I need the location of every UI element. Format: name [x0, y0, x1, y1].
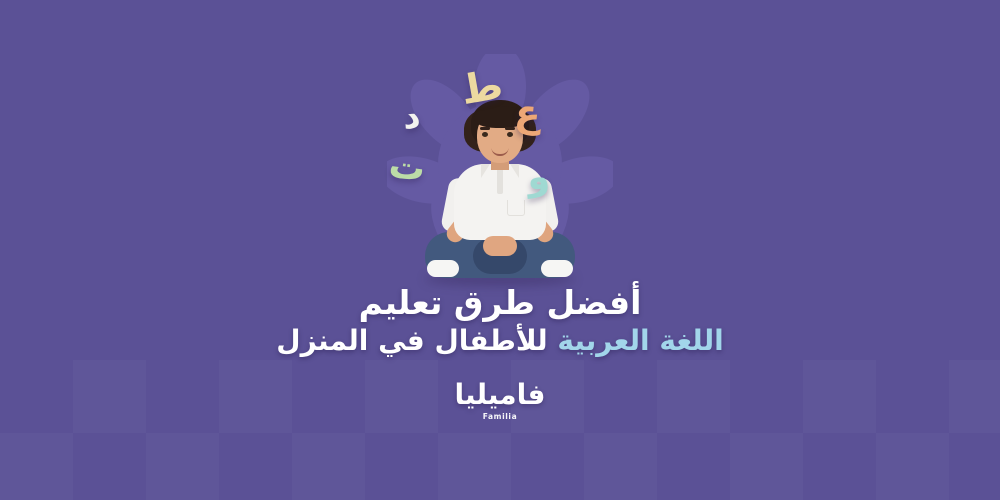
shoe-right [541, 260, 573, 277]
brand-logo: فاميليا Familia [0, 381, 1000, 421]
collar-left [481, 164, 490, 178]
child-illustration [419, 100, 581, 282]
hair-fringe [474, 106, 526, 128]
headline-highlight: اللغة العربية [557, 324, 723, 357]
eye-left [482, 132, 488, 137]
eyebrow-left [480, 127, 490, 130]
hands [483, 236, 517, 256]
eye-right [507, 132, 513, 137]
headline-block: أفضل طرق تعليم اللغة العربية للأطفال في … [0, 286, 1000, 355]
shirt-pocket [507, 200, 525, 216]
eyebrow-right [505, 127, 515, 130]
promo-banner: ط ع د ت و أفضل طرق تعليم اللغة العربية ل… [0, 0, 1000, 500]
shoe-left [427, 260, 459, 277]
headline-line-2: اللغة العربية للأطفال في المنزل [0, 327, 1000, 355]
headline-line-2-rest: للأطفال في المنزل [276, 324, 557, 357]
hero-photo: ط ع د ت و [375, 48, 625, 288]
logo-arabic-wordmark: فاميليا [0, 381, 1000, 409]
headline-line-1: أفضل طرق تعليم [0, 286, 1000, 319]
shirt-placket [497, 168, 503, 194]
logo-latin-wordmark: Familia [0, 412, 1000, 421]
collar-right [510, 164, 519, 178]
